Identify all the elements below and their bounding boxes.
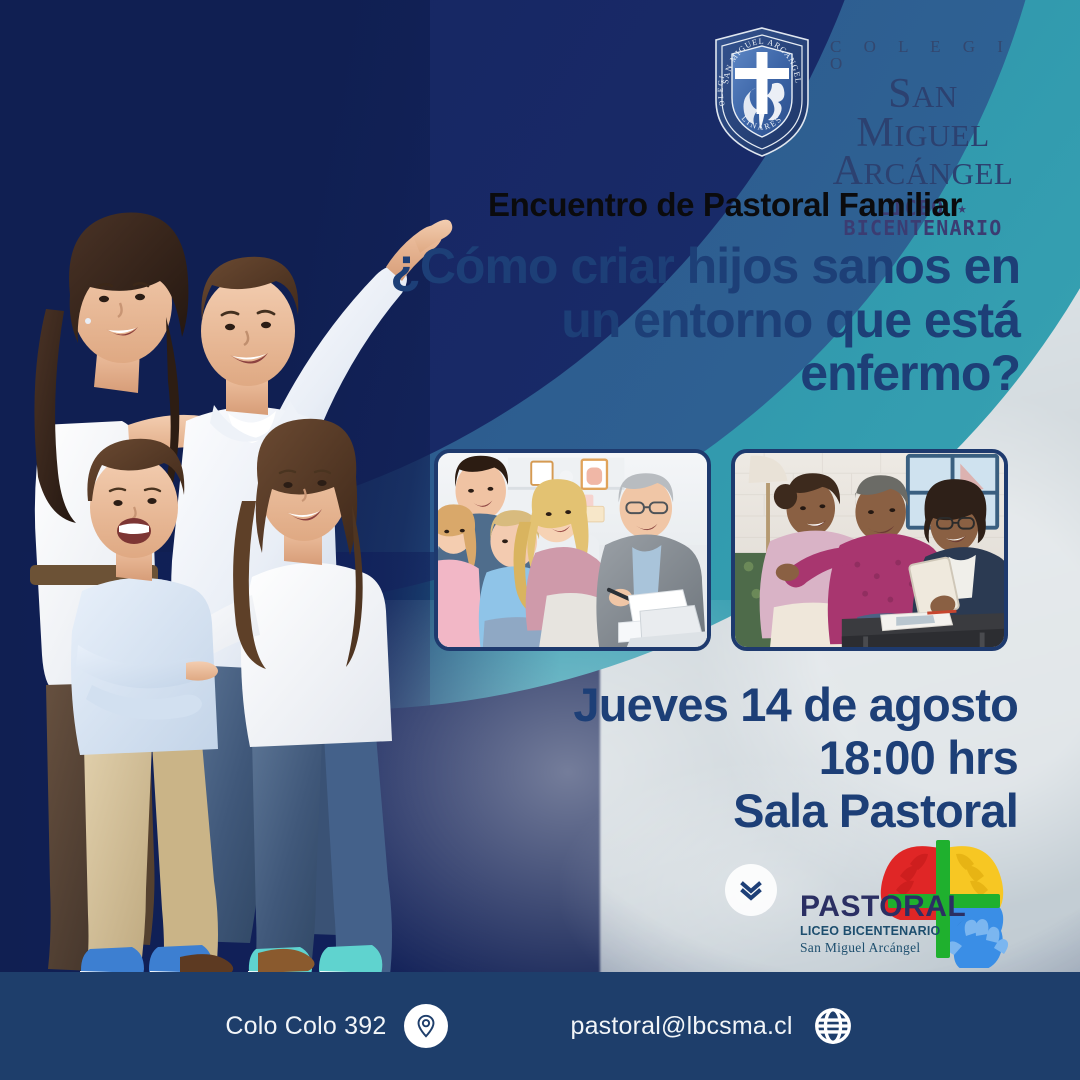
double-chevron-down-icon (738, 877, 764, 903)
event-place: Sala Pastoral (420, 784, 1018, 837)
pastoral-wordmark: PASTORAL LICEO BICENTENARIO San Miguel A… (800, 892, 950, 956)
school-word-colegio: C O L E G I O (830, 38, 1024, 72)
photo-strip (434, 449, 1009, 651)
scroll-hint-badge[interactable] (725, 864, 777, 916)
globe-icon (811, 1004, 855, 1048)
school-logo: SAN MIGUEL ARCANGEL LINARES COLEGIO C O … (712, 22, 1024, 177)
event-headline: ¿Cómo criar hijos sanos en un entorno qu… (330, 240, 1020, 401)
school-word-san: AN (912, 79, 958, 114)
pastoral-subtitle-liceo: LICEO BICENTENARIO (800, 924, 950, 940)
footer-address: Colo Colo 392 (225, 1004, 448, 1048)
pastoral-logo: PASTORAL LICEO BICENTENARIO San Miguel A… (800, 838, 1010, 968)
event-date: Jueves 14 de agosto (420, 678, 1018, 731)
pastoral-subtitle-school: San Miguel Arcángel (800, 940, 950, 956)
event-time: 18:00 hrs (420, 731, 1018, 784)
school-word-name: SAN MIGUEL ARCÁNGEL (822, 75, 1024, 191)
event-kicker: Encuentro de Pastoral Familiar (430, 186, 1020, 224)
photo-family-counseling (434, 449, 711, 651)
footer-email-text: pastoral@lbcsma.cl (570, 1012, 792, 1041)
poster-root: SAN MIGUEL ARCANGEL LINARES COLEGIO C O … (0, 0, 1080, 1080)
footer-email[interactable]: pastoral@lbcsma.cl (570, 1004, 854, 1048)
school-crest-icon: SAN MIGUEL ARCANGEL LINARES COLEGIO (712, 26, 812, 158)
photo-couple-meeting (731, 449, 1008, 651)
pastoral-title: PASTORAL (800, 892, 950, 922)
event-details: Jueves 14 de agosto 18:00 hrs Sala Pasto… (420, 678, 1018, 837)
school-word-miguel: IGUEL (894, 118, 989, 153)
footer-address-text: Colo Colo 392 (225, 1012, 386, 1041)
location-pin-icon (404, 1004, 448, 1048)
footer-bar: Colo Colo 392 pastoral@lbcsma.cl (0, 972, 1080, 1080)
